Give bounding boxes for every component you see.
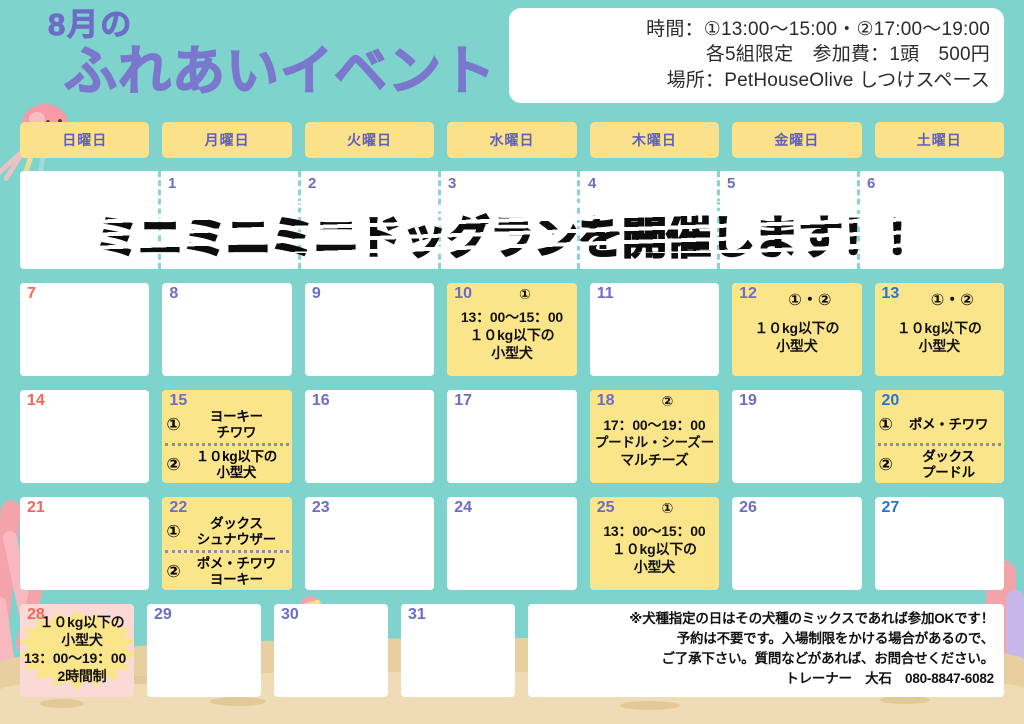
event-line: １０kg以下の bbox=[451, 327, 572, 345]
calendar-day-18[interactable]: 18 ② 17：00〜19：00 プードル・シーズー マルチーズ bbox=[590, 390, 719, 483]
banner-daynum-4: 4 bbox=[588, 175, 596, 192]
day-number: 20 bbox=[882, 392, 900, 410]
session-marker: ② bbox=[166, 455, 180, 475]
day-number: 27 bbox=[882, 499, 900, 517]
event-line: チワワ bbox=[217, 425, 257, 440]
banner-daynum-6: 6 bbox=[867, 175, 875, 192]
day-number: 26 bbox=[739, 499, 757, 517]
calendar-day-28[interactable]: 28 １０kg以下の 小型犬 13：00〜19：00 2時間制 bbox=[20, 604, 134, 697]
session-slot-1: ① ダックス シュナウザー bbox=[162, 513, 291, 550]
event-line: プードル bbox=[922, 465, 975, 480]
calendar-day-12[interactable]: 12 ①・② １０kg以下の 小型犬 bbox=[732, 283, 861, 376]
weekday-header-row: 日曜日 月曜日 火曜日 水曜日 木曜日 金曜日 土曜日 bbox=[20, 122, 1004, 158]
note-line: ご了承下さい。質問などがあれば、お問合せください。 bbox=[538, 649, 994, 669]
session-marker: ① bbox=[879, 415, 893, 435]
event-line: 2時間制 bbox=[34, 668, 130, 686]
day-number: 22 bbox=[169, 499, 187, 517]
event-line: １０kg以下の bbox=[196, 449, 277, 464]
event-line: 小型犬 bbox=[594, 559, 715, 577]
session-slot-2: ② ポメ・チワワ ヨーキー bbox=[162, 553, 291, 590]
calendar-day-27[interactable]: 27 bbox=[875, 497, 1004, 590]
session-marker: ① bbox=[447, 286, 576, 303]
title-main: ふれあいイベント bbox=[30, 44, 496, 100]
calendar-week-row: 7 8 9 10 ① 13：00〜15：00 １０kg以下の 小型犬 11 bbox=[20, 283, 1004, 376]
banner-daynum-2: 2 bbox=[308, 175, 316, 192]
day-number: 21 bbox=[27, 499, 45, 517]
calendar-day-25[interactable]: 25 ① 13：00〜15：00 １０kg以下の 小型犬 bbox=[590, 497, 719, 590]
calendar-day-11[interactable]: 11 bbox=[590, 283, 719, 376]
banner-daynum-5: 5 bbox=[727, 175, 735, 192]
calendar-day-21[interactable]: 21 bbox=[20, 497, 149, 590]
banner-headline: ミニミニミニドッグランを開催します！！ bbox=[20, 201, 1004, 266]
calendar-day-19[interactable]: 19 bbox=[732, 390, 861, 483]
weekday-wednesday: 水曜日 bbox=[447, 122, 576, 158]
weekday-thursday: 木曜日 bbox=[590, 122, 719, 158]
session-marker: ② bbox=[879, 455, 893, 475]
event-line: 小型犬 bbox=[34, 632, 130, 650]
session-marker: ② bbox=[166, 562, 180, 582]
event-line: ダックス bbox=[210, 516, 262, 531]
event-line: ヨーキー bbox=[210, 572, 263, 587]
event-line: ヨーキー bbox=[210, 409, 263, 424]
session-marker: ①・② bbox=[732, 286, 861, 310]
day-number: 8 bbox=[169, 285, 178, 303]
session-slot-2: ② ダックス プードル bbox=[875, 446, 1004, 483]
event-line: 小型犬 bbox=[736, 338, 857, 356]
event-line: ダックス bbox=[922, 449, 974, 464]
calendar-day-29[interactable]: 29 bbox=[147, 604, 261, 697]
info-fee-line: 各5組限定 参加費：1頭 500円 bbox=[523, 42, 990, 67]
calendar-day-8[interactable]: 8 bbox=[162, 283, 291, 376]
event-line: 17：00〜19：00 bbox=[594, 417, 715, 435]
event-line: １０kg以下の bbox=[736, 320, 857, 338]
day-number: 28 bbox=[27, 606, 45, 624]
event-line: 小型犬 bbox=[879, 338, 1000, 356]
weekday-monday: 月曜日 bbox=[162, 122, 291, 158]
calendar-day-10[interactable]: 10 ① 13：00〜15：00 １０kg以下の 小型犬 bbox=[447, 283, 576, 376]
session-marker: ② bbox=[590, 393, 719, 410]
note-line: ※犬種指定の日はその犬種のミックスであれば参加OKです！ bbox=[538, 609, 994, 629]
calendar-day-20[interactable]: 20 ① ポメ・チワワ ② ダックス プードル bbox=[875, 390, 1004, 483]
info-time-line: 時間：①13:00〜15:00・②17:00〜19:00 bbox=[523, 17, 990, 42]
event-line: １０kg以下の bbox=[594, 541, 715, 559]
day-number: 16 bbox=[312, 392, 330, 410]
weekday-friday: 金曜日 bbox=[732, 122, 861, 158]
calendar-day-17[interactable]: 17 bbox=[447, 390, 576, 483]
calendar-day-13[interactable]: 13 ①・② １０kg以下の 小型犬 bbox=[875, 283, 1004, 376]
day-number: 24 bbox=[454, 499, 472, 517]
calendar-day-23[interactable]: 23 bbox=[305, 497, 434, 590]
weekday-tuesday: 火曜日 bbox=[305, 122, 434, 158]
page-title: 8月の ふれあいイベント bbox=[30, 8, 496, 100]
calendar-week-row: 21 22 ① ダックス シュナウザー ② bbox=[20, 497, 1004, 590]
calendar-day-16[interactable]: 16 bbox=[305, 390, 434, 483]
calendar-day-24[interactable]: 24 bbox=[447, 497, 576, 590]
event-line: １０kg以下の bbox=[879, 320, 1000, 338]
header: 8月の ふれあいイベント 時間：①13:00〜15:00・②17:00〜19:0… bbox=[20, 0, 1004, 120]
title-month: 8月の bbox=[30, 8, 496, 42]
event-line: 13：00〜15：00 bbox=[594, 523, 715, 541]
calendar-day-15[interactable]: 15 ① ヨーキー チワワ ② １０kg以下の 小型犬 bbox=[162, 390, 291, 483]
day-number: 9 bbox=[312, 285, 321, 303]
note-contact-line: トレーナー 大石 080-8847-6082 bbox=[538, 669, 994, 689]
event-line: 小型犬 bbox=[451, 345, 572, 363]
weekday-sunday: 日曜日 bbox=[20, 122, 149, 158]
day-number: 29 bbox=[154, 606, 172, 624]
weekday-saturday: 土曜日 bbox=[875, 122, 1004, 158]
banner-daynum-1: 1 bbox=[168, 175, 176, 192]
calendar-day-22[interactable]: 22 ① ダックス シュナウザー ② ポメ・チワワ ヨー bbox=[162, 497, 291, 590]
event-line: 13：00〜15：00 bbox=[451, 309, 572, 327]
calendar-day-26[interactable]: 26 bbox=[732, 497, 861, 590]
day-number: 30 bbox=[281, 606, 299, 624]
calendar-day-30[interactable]: 30 bbox=[274, 604, 388, 697]
day-number: 7 bbox=[27, 285, 36, 303]
note-line: 予約は不要です。入場制限をかける場合があるので、 bbox=[538, 629, 994, 649]
day-number: 23 bbox=[312, 499, 330, 517]
event-line: ポメ・チワワ bbox=[197, 556, 276, 571]
day-number: 31 bbox=[408, 606, 426, 624]
session-marker: ① bbox=[166, 522, 180, 542]
event-line: 13：00〜19：00 bbox=[20, 650, 130, 668]
footer-note-box: ※犬種指定の日はその犬種のミックスであれば参加OKです！ 予約は不要です。入場制… bbox=[528, 604, 1004, 697]
banner-week-row: 1 2 3 4 5 6 ミニミニミニドッグランを開催します！！ bbox=[20, 171, 1004, 269]
info-place-line: 場所：PetHouseOlive しつけスペース bbox=[523, 68, 990, 93]
event-line: シュナウザー bbox=[197, 532, 276, 547]
event-info-box: 時間：①13:00〜15:00・②17:00〜19:00 各5組限定 参加費：1… bbox=[509, 8, 1004, 103]
day-number: 17 bbox=[454, 392, 472, 410]
calendar-day-14[interactable]: 14 bbox=[20, 390, 149, 483]
event-line: 小型犬 bbox=[217, 465, 257, 480]
calendar-day-7[interactable]: 7 bbox=[20, 283, 149, 376]
day-number: 15 bbox=[169, 392, 187, 410]
session-marker: ① bbox=[166, 415, 180, 435]
session-slot-1: ① ポメ・チワワ bbox=[875, 406, 1004, 443]
session-marker: ① bbox=[590, 500, 719, 517]
calendar-week-row: 28 １０kg以下の 小型犬 13：00〜19：00 2時間制 29 30 31… bbox=[20, 604, 1004, 697]
event-line: ポメ・チワワ bbox=[909, 417, 988, 432]
day-number: 14 bbox=[27, 392, 45, 410]
calendar-week-row: 14 15 ① ヨーキー チワワ ② １ bbox=[20, 390, 1004, 483]
day-number: 19 bbox=[739, 392, 757, 410]
session-marker: ①・② bbox=[875, 286, 1004, 310]
session-slot-2: ② １０kg以下の 小型犬 bbox=[162, 446, 291, 483]
event-line: マルチーズ bbox=[594, 452, 715, 470]
event-line: プードル・シーズー bbox=[594, 434, 715, 451]
calendar-grid: 7 8 9 10 ① 13：00〜15：00 １０kg以下の 小型犬 11 bbox=[20, 283, 1004, 697]
banner-daynum-3: 3 bbox=[448, 175, 456, 192]
calendar-day-31[interactable]: 31 bbox=[401, 604, 515, 697]
calendar-day-9[interactable]: 9 bbox=[305, 283, 434, 376]
event-line: １０kg以下の bbox=[34, 614, 130, 632]
session-slot-1: ① ヨーキー チワワ bbox=[162, 406, 291, 443]
day-number: 11 bbox=[597, 285, 614, 303]
